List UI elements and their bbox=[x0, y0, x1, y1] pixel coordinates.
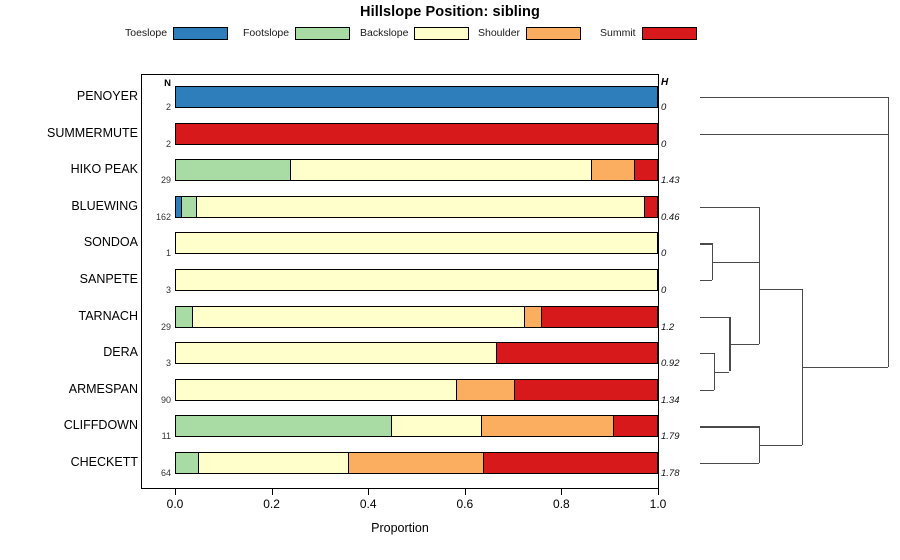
bar-segment-toeslope bbox=[176, 87, 657, 107]
x-axis-tick bbox=[561, 489, 562, 495]
bar-segment-summit bbox=[176, 124, 657, 144]
x-axis-tick bbox=[272, 489, 273, 495]
dendrogram-branch bbox=[700, 134, 888, 135]
bar-segment-backslope bbox=[176, 343, 497, 363]
bar-hiko-peak[interactable] bbox=[175, 159, 658, 181]
h-value: 0 bbox=[661, 285, 699, 296]
dendrogram-branch bbox=[700, 97, 888, 98]
bar-segment-backslope bbox=[176, 270, 657, 290]
bar-segment-backslope bbox=[392, 416, 481, 436]
x-axis-tick-label: 1.0 bbox=[650, 497, 667, 511]
bar-segment-summit bbox=[645, 197, 657, 217]
bar-segment-shoulder bbox=[349, 453, 484, 473]
h-value: 1.2 bbox=[661, 322, 699, 333]
bar-segment-summit bbox=[635, 160, 657, 180]
dendrogram-branch bbox=[700, 317, 729, 318]
y-axis-label-cliffdown: CLIFFDOWN bbox=[0, 418, 138, 432]
x-axis-tick-label: 0.4 bbox=[360, 497, 377, 511]
legend-label: Shoulder bbox=[478, 27, 520, 39]
n-value: 2 bbox=[143, 102, 171, 112]
bar-dera[interactable] bbox=[175, 342, 658, 364]
bar-segment-summit bbox=[515, 380, 657, 400]
bar-segment-backslope bbox=[291, 160, 592, 180]
bar-segment-backslope bbox=[199, 453, 350, 473]
legend-item-shoulder[interactable]: Shoulder bbox=[478, 24, 581, 42]
bar-sanpete[interactable] bbox=[175, 269, 658, 291]
bar-tarnach[interactable] bbox=[175, 306, 658, 328]
bar-segment-summit bbox=[542, 307, 657, 327]
n-value: 2 bbox=[143, 139, 171, 149]
n-value: 1 bbox=[143, 248, 171, 258]
bar-segment-backslope bbox=[176, 380, 457, 400]
dendrogram-branch bbox=[700, 463, 759, 464]
x-axis-tick bbox=[658, 489, 659, 495]
h-value: 0 bbox=[661, 102, 699, 113]
y-axis-label-checkett: CHECKETT bbox=[0, 455, 138, 469]
dendrogram-branch bbox=[712, 262, 759, 263]
bar-segment-backslope bbox=[193, 307, 525, 327]
bar-segment-footslope bbox=[176, 416, 392, 436]
x-axis-title: Proportion bbox=[141, 521, 659, 535]
legend-label: Toeslope bbox=[125, 27, 167, 39]
legend: ToeslopeFootslopeBackslopeShoulderSummit bbox=[0, 24, 900, 44]
chart-title: Hillslope Position: sibling bbox=[0, 4, 900, 20]
dendrogram-branch bbox=[759, 289, 802, 290]
x-axis-tick-label: 0.0 bbox=[167, 497, 184, 511]
y-axis-label-hiko-peak: HIKO PEAK bbox=[0, 162, 138, 176]
dendrogram bbox=[700, 74, 900, 489]
y-axis-label-sanpete: SANPETE bbox=[0, 272, 138, 286]
dendrogram-branch bbox=[700, 390, 714, 391]
bar-segment-summit bbox=[614, 416, 657, 436]
dendrogram-branch bbox=[759, 445, 802, 446]
bar-segment-shoulder bbox=[457, 380, 515, 400]
n-column: N 222916213293901164 bbox=[143, 74, 173, 489]
h-value: 0 bbox=[661, 139, 699, 150]
n-value: 29 bbox=[143, 175, 171, 185]
n-value: 162 bbox=[143, 212, 171, 222]
bar-segment-backslope bbox=[176, 233, 657, 253]
legend-item-backslope[interactable]: Backslope bbox=[360, 24, 469, 42]
x-axis-tick-label: 0.6 bbox=[456, 497, 473, 511]
n-value: 11 bbox=[143, 431, 171, 441]
bar-armespan[interactable] bbox=[175, 379, 658, 401]
bar-sondoa[interactable] bbox=[175, 232, 658, 254]
dendrogram-branch bbox=[888, 115, 889, 367]
legend-swatch-shoulder bbox=[526, 27, 581, 40]
h-value: 1.34 bbox=[661, 395, 699, 406]
bar-cliffdown[interactable] bbox=[175, 415, 658, 437]
legend-item-footslope[interactable]: Footslope bbox=[243, 24, 350, 42]
n-value: 3 bbox=[143, 358, 171, 368]
h-value: 0.92 bbox=[661, 358, 699, 369]
h-value: 0 bbox=[661, 248, 699, 259]
dendrogram-branch bbox=[700, 353, 714, 354]
dendrogram-branch bbox=[700, 426, 759, 427]
x-axis-tick-label: 0.8 bbox=[553, 497, 570, 511]
bar-segment-shoulder bbox=[592, 160, 635, 180]
h-column: H 001.430.46001.20.921.341.791.78 bbox=[661, 74, 701, 489]
legend-swatch-backslope bbox=[414, 27, 469, 40]
legend-label: Backslope bbox=[360, 27, 408, 39]
bar-segment-backslope bbox=[197, 197, 645, 217]
legend-swatch-toeslope bbox=[173, 27, 228, 40]
y-axis-labels: PENOYERSUMMERMUTEHIKO PEAKBLUEWINGSONDOA… bbox=[0, 74, 138, 489]
x-axis-tick bbox=[368, 489, 369, 495]
x-axis-tick-label: 0.2 bbox=[263, 497, 280, 511]
n-column-header: N bbox=[143, 78, 171, 89]
bar-segment-summit bbox=[497, 343, 657, 363]
n-value: 64 bbox=[143, 468, 171, 478]
bar-segment-footslope bbox=[176, 307, 193, 327]
bar-checkett[interactable] bbox=[175, 452, 658, 474]
x-axis-tick bbox=[465, 489, 466, 495]
stacked-bars bbox=[175, 74, 658, 489]
y-axis-label-tarnach: TARNACH bbox=[0, 309, 138, 323]
dendrogram-branch bbox=[714, 372, 730, 373]
y-axis-label-armespan: ARMESPAN bbox=[0, 382, 138, 396]
legend-label: Summit bbox=[600, 27, 636, 39]
dendrogram-branch bbox=[802, 367, 888, 368]
y-axis-label-bluewing: BLUEWING bbox=[0, 199, 138, 213]
dendrogram-branch bbox=[729, 344, 758, 345]
bar-segment-footslope bbox=[176, 160, 291, 180]
chart-root: Hillslope Position: sibling ToeslopeFoot… bbox=[0, 0, 900, 560]
x-axis-tick bbox=[175, 489, 176, 495]
h-column-header: H bbox=[661, 77, 683, 88]
y-axis-label-summermute: SUMMERMUTE bbox=[0, 126, 138, 140]
y-axis-label-dera: DERA bbox=[0, 345, 138, 359]
h-value: 1.78 bbox=[661, 468, 699, 479]
bar-penoyer[interactable] bbox=[175, 86, 658, 108]
bar-segment-footslope bbox=[176, 453, 199, 473]
dendrogram-branch bbox=[700, 207, 759, 208]
y-axis-label-penoyer: PENOYER bbox=[0, 89, 138, 103]
bar-bluewing[interactable] bbox=[175, 196, 658, 218]
bar-segment-footslope bbox=[182, 197, 197, 217]
legend-swatch-footslope bbox=[295, 27, 350, 40]
n-value: 3 bbox=[143, 285, 171, 295]
bar-summermute[interactable] bbox=[175, 123, 658, 145]
legend-item-summit[interactable]: Summit bbox=[600, 24, 697, 42]
h-value: 1.79 bbox=[661, 431, 699, 442]
y-axis-label-sondoa: SONDOA bbox=[0, 235, 138, 249]
legend-item-toeslope[interactable]: Toeslope bbox=[125, 24, 228, 42]
h-value: 1.43 bbox=[661, 175, 699, 186]
dendrogram-branch bbox=[700, 243, 712, 244]
n-value: 29 bbox=[143, 322, 171, 332]
h-value: 0.46 bbox=[661, 212, 699, 223]
n-value: 90 bbox=[143, 395, 171, 405]
bar-segment-shoulder bbox=[525, 307, 542, 327]
bar-segment-summit bbox=[484, 453, 657, 473]
dendrogram-branch bbox=[700, 280, 712, 281]
legend-label: Footslope bbox=[243, 27, 289, 39]
legend-swatch-summit bbox=[642, 27, 697, 40]
bar-segment-shoulder bbox=[482, 416, 614, 436]
